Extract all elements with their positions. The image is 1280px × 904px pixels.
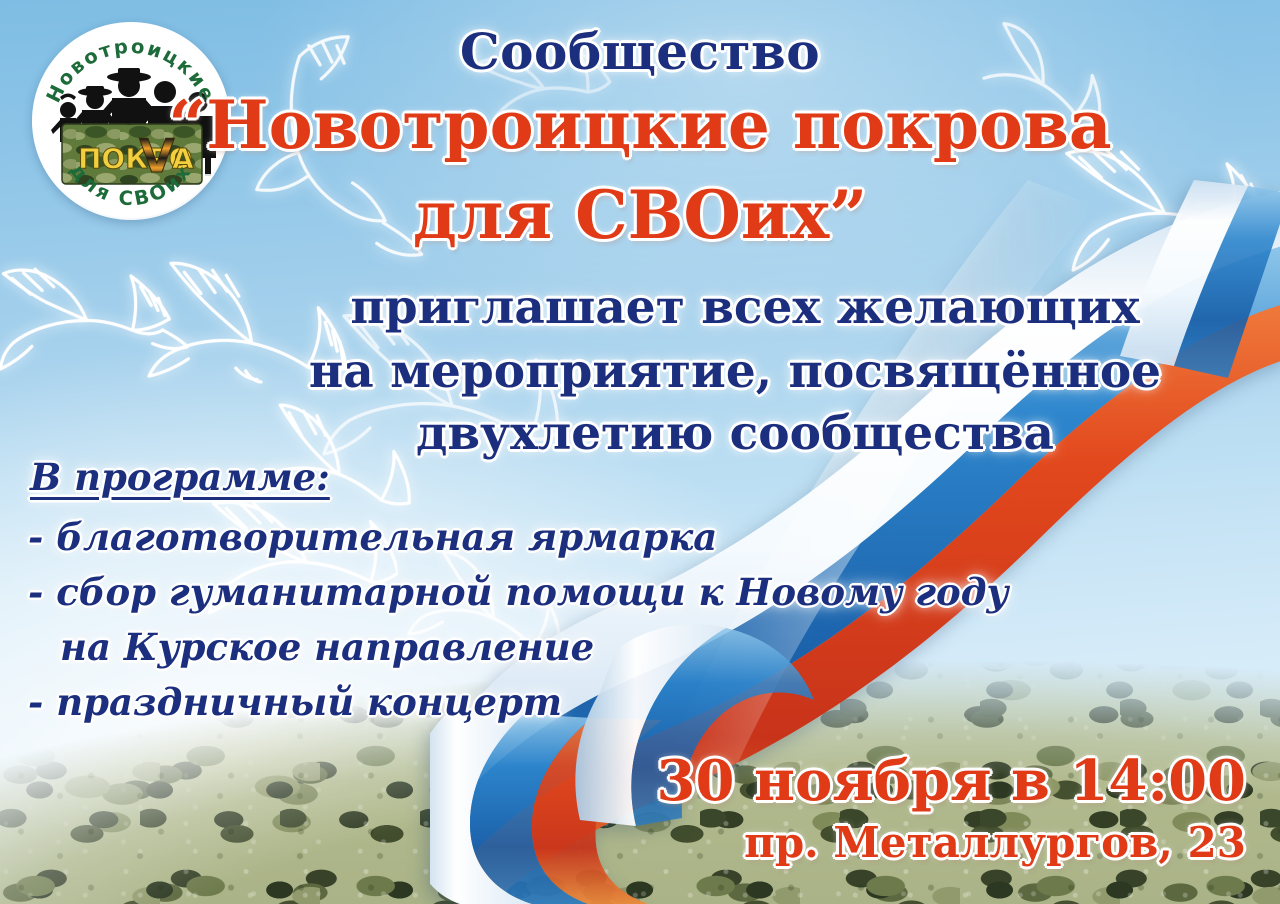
event-date-time: 30 ноября в 14:00	[657, 748, 1246, 814]
community-word: Сообщество	[0, 22, 1280, 81]
invitation-line-1: приглашает всех желающих	[280, 280, 1210, 335]
program-heading: В программе:	[30, 455, 330, 499]
dove-icon	[114, 244, 355, 430]
event-address: пр. Металлургов, 23	[744, 818, 1246, 867]
program-item: - сбор гуманитарной помощи к Новому году	[28, 570, 1009, 614]
event-poster: ПОКРО V А Новотроицкие для СВОих Сообщес…	[0, 0, 1280, 904]
program-item-continuation: на Курское направление	[60, 625, 594, 669]
program-item: - благотворительная ярмарка	[28, 515, 717, 559]
poster-title-line2: для СВОих”	[0, 176, 1280, 254]
invitation-line-2: на мероприятие, посвящённое	[250, 344, 1220, 399]
poster-title-line1: “Новотроицкие покрова	[0, 86, 1280, 164]
program-item: - праздничный концерт	[28, 680, 562, 724]
invitation-line-3: двухлетию сообщества	[280, 406, 1190, 461]
